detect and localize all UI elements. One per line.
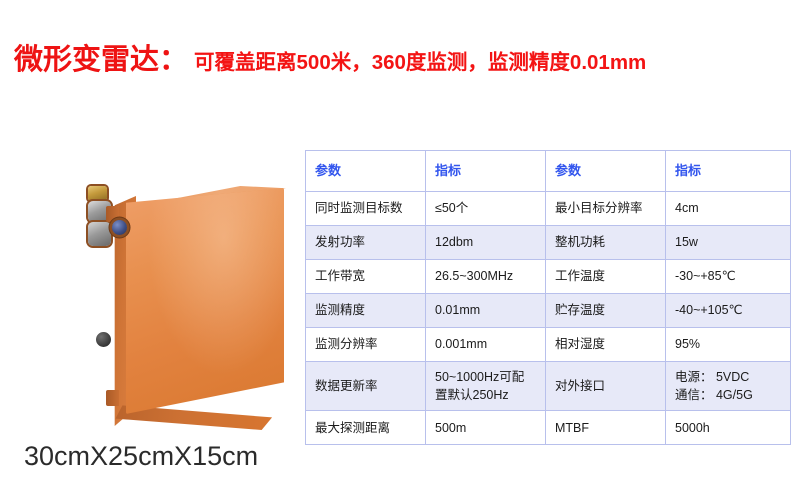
cell-param-value: 0.001mm	[426, 328, 546, 362]
table-row: 监测分辨率 0.001mm 相对湿度 95%	[306, 328, 791, 362]
radar-device-illustration	[88, 186, 288, 434]
metal-connector-lower-icon	[88, 222, 111, 246]
black-knob-icon	[96, 332, 111, 347]
cell-param-value: 4cm	[666, 192, 791, 226]
device-mounting-tab-bottom	[106, 390, 119, 406]
cell-param-name: 监测分辨率	[306, 328, 426, 362]
cell-param-name: 整机功耗	[546, 226, 666, 260]
product-image	[88, 186, 288, 434]
cell-param-value: -30~+85℃	[666, 260, 791, 294]
table-row: 同时监测目标数 ≤50个 最小目标分辨率 4cm	[306, 192, 791, 226]
gold-rectangular-connector-icon	[88, 186, 107, 201]
page-title: 微形变雷达： 可覆盖距离500米，360度监测，监测精度0.01mm	[14, 46, 646, 75]
product-dimension-caption: 30cmX25cmX15cm	[24, 443, 258, 470]
cell-param-value: 15w	[666, 226, 791, 260]
page-title-main: 微形变雷达：	[14, 46, 188, 75]
cell-param-name: 发射功率	[306, 226, 426, 260]
cell-param-value: -40~+105℃	[666, 294, 791, 328]
table-row: 工作带宽 26.5~300MHz 工作温度 -30~+85℃	[306, 260, 791, 294]
device-front-face	[126, 188, 284, 414]
cell-param-value: 50~1000Hz可配置默认250Hz	[426, 362, 546, 411]
cell-param-value: 5000h	[666, 411, 791, 445]
column-header-param-2: 参数	[546, 151, 666, 192]
cell-param-name: 贮存温度	[546, 294, 666, 328]
cell-param-name: 工作带宽	[306, 260, 426, 294]
table-row: 监测精度 0.01mm 贮存温度 -40~+105℃	[306, 294, 791, 328]
cell-param-name: 同时监测目标数	[306, 192, 426, 226]
cell-param-value: 26.5~300MHz	[426, 260, 546, 294]
table-header-row: 参数 指标 参数 指标	[306, 151, 791, 192]
column-header-value-1: 指标	[426, 151, 546, 192]
cell-param-value: 电源： 5VDC 通信： 4G/5G	[666, 362, 791, 411]
blue-circular-connector-icon	[112, 220, 127, 235]
cell-param-name: 相对湿度	[546, 328, 666, 362]
cell-param-name: 监测精度	[306, 294, 426, 328]
cell-param-name: 最大探测距离	[306, 411, 426, 445]
table-row: 发射功率 12dbm 整机功耗 15w	[306, 226, 791, 260]
column-header-value-2: 指标	[666, 151, 791, 192]
cell-param-name: 对外接口	[546, 362, 666, 411]
page-title-subtitle: 可覆盖距离500米，360度监测，监测精度0.01mm	[194, 53, 646, 74]
table-row: 数据更新率 50~1000Hz可配置默认250Hz 对外接口 电源： 5VDC …	[306, 362, 791, 411]
cell-param-name: MTBF	[546, 411, 666, 445]
specification-table: 参数 指标 参数 指标 同时监测目标数 ≤50个 最小目标分辨率 4cm 发射功…	[305, 150, 791, 445]
cell-param-value: 0.01mm	[426, 294, 546, 328]
cell-param-name: 最小目标分辨率	[546, 192, 666, 226]
cell-param-name: 数据更新率	[306, 362, 426, 411]
cell-param-value: 95%	[666, 328, 791, 362]
table-row: 最大探测距离 500m MTBF 5000h	[306, 411, 791, 445]
cell-param-value: 500m	[426, 411, 546, 445]
cell-param-value: 12dbm	[426, 226, 546, 260]
cell-param-name: 工作温度	[546, 260, 666, 294]
column-header-param-1: 参数	[306, 151, 426, 192]
cell-param-value: ≤50个	[426, 192, 546, 226]
